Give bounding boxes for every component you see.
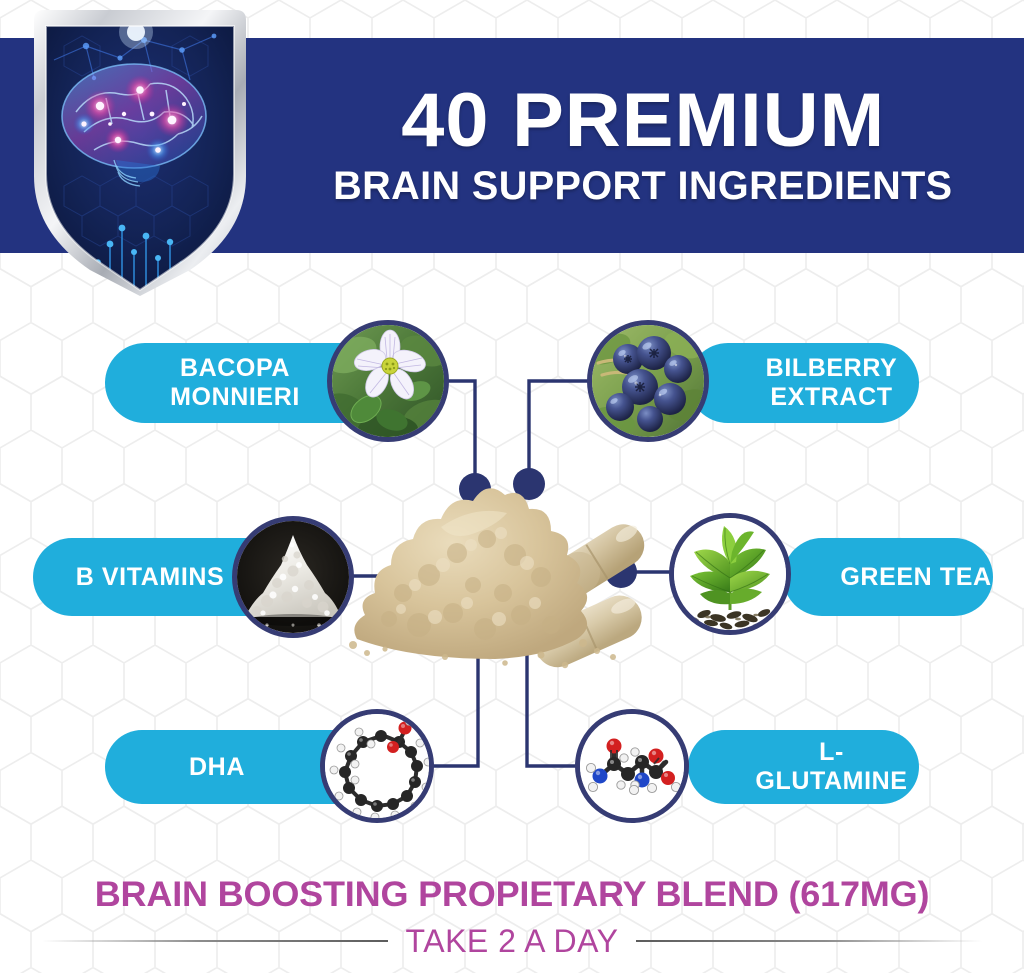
bilberry-berries-icon (587, 320, 709, 442)
white-powder-icon (232, 516, 354, 638)
header-title-group: 40 PREMIUM BRAIN SUPPORT INGREDIENTS (262, 38, 1024, 253)
blend-title: BRAIN BOOSTING PROPIETARY BLEND (617MG) (0, 876, 1024, 915)
page-title-secondary: BRAIN SUPPORT INGREDIENTS (333, 165, 952, 207)
powder-pile-and-capsules-image (345, 443, 675, 713)
dha-molecule-icon (320, 709, 434, 823)
ingredient-label: GREEN TEA (783, 563, 993, 592)
green-tea-leaves-icon (669, 513, 791, 635)
brain-shield-icon (24, 6, 256, 296)
ingredient-pill-bilberry-extract[interactable]: BILBERRY EXTRACT (688, 343, 919, 423)
divider-right (636, 940, 982, 942)
infographic-page: 40 PREMIUM BRAIN SUPPORT INGREDIENTS (0, 0, 1024, 973)
footer-block: BRAIN BOOSTING PROPIETARY BLEND (617MG) … (0, 876, 1024, 973)
dosage-text: TAKE 2 A DAY (388, 923, 637, 960)
ingredient-label: L-GLUTAMINE (688, 738, 919, 796)
ingredient-pill-green-tea[interactable]: GREEN TEA (783, 538, 993, 616)
ingredient-pill-l-glutamine[interactable]: L-GLUTAMINE (688, 730, 919, 804)
page-title-primary: 40 PREMIUM (401, 84, 885, 158)
dosage-row: TAKE 2 A DAY (0, 923, 1024, 960)
glutamine-molecule-icon (575, 709, 689, 823)
bacopa-flower-icon (327, 320, 449, 442)
divider-left (42, 940, 388, 942)
ingredient-label: BILBERRY EXTRACT (688, 354, 919, 412)
